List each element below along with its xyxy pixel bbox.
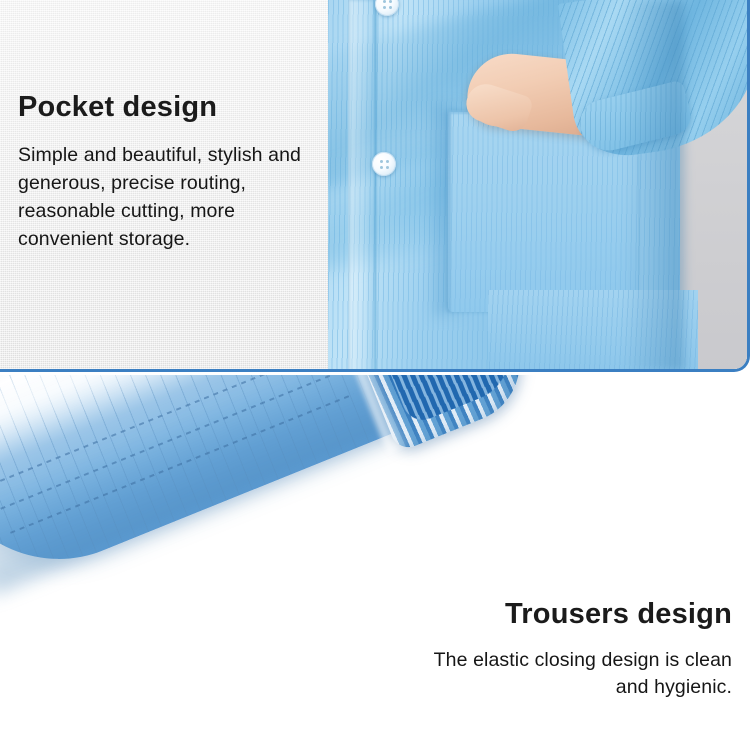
product-feature-infographic: Pocket design Simple and beautiful, styl…: [0, 0, 750, 750]
shirt-button-middle: [372, 152, 396, 176]
trousers-design-panel: Trousers design The elastic closing desi…: [0, 375, 750, 750]
trousers-design-description: The elastic closing design is clean and …: [402, 647, 732, 702]
shirt-pocket-photo: [328, 0, 750, 372]
pocket-design-description: Simple and beautiful, stylish and genero…: [18, 142, 328, 254]
placket-edge-seam: [374, 0, 377, 372]
pocket-design-title: Pocket design: [18, 92, 328, 124]
shirt-side-shadow: [624, 0, 684, 372]
pocket-design-panel: Pocket design Simple and beautiful, styl…: [0, 0, 750, 372]
trousers-design-title: Trousers design: [402, 599, 732, 631]
shirt-placket: [348, 0, 376, 372]
pocket-design-text-block: Pocket design Simple and beautiful, styl…: [18, 92, 328, 253]
pocket-left-seam: [447, 112, 451, 312]
trousers-design-text-block: Trousers design The elastic closing desi…: [402, 599, 732, 701]
